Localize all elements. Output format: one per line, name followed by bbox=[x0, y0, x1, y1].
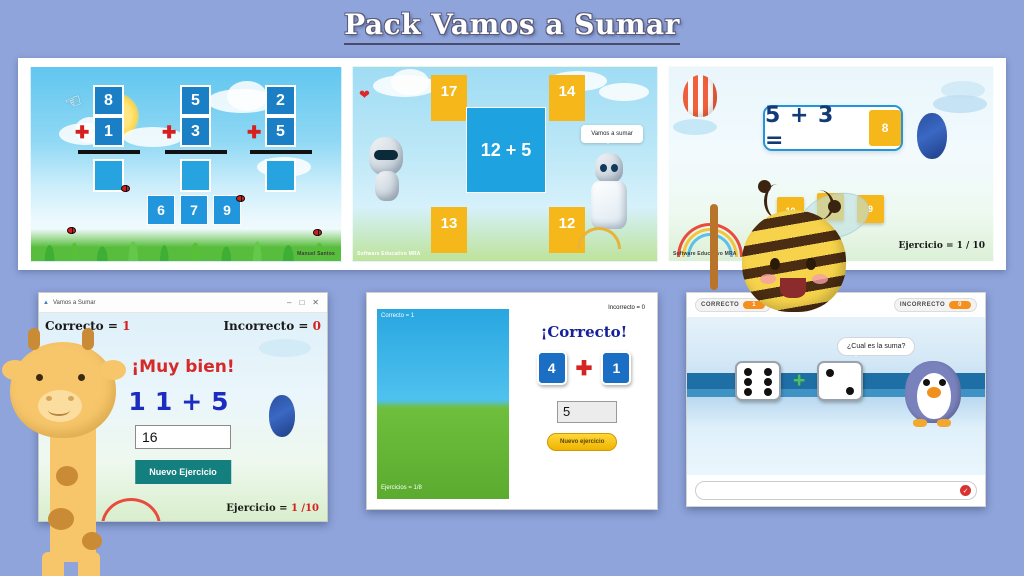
die-pip bbox=[846, 387, 854, 395]
slide-canvas: Pack Vamos a Sumar ☜ 8 1 ✚ 5 3 bbox=[0, 0, 1024, 576]
grass-decoration bbox=[31, 215, 341, 261]
addition-problem[interactable]: 2 5 bbox=[265, 85, 312, 192]
die-pip bbox=[744, 378, 752, 386]
sum-rule bbox=[165, 150, 227, 154]
operand-top: 8 bbox=[93, 85, 124, 116]
equation-display: 12 + 5 bbox=[466, 107, 546, 193]
plus-icon: ✚ bbox=[162, 123, 176, 143]
watermark: Manuel Santos bbox=[297, 251, 335, 257]
addition-problem[interactable]: 8 1 bbox=[93, 85, 140, 192]
answer-bar[interactable]: ✓ bbox=[687, 475, 985, 507]
sum-rule bbox=[250, 150, 312, 154]
rainbow-icon bbox=[101, 498, 161, 522]
correct-score: Correcto = 1 bbox=[45, 319, 130, 333]
exercise-counter: Ejercicio = 1 /10 bbox=[226, 503, 319, 514]
incorrect-value: 0 bbox=[949, 301, 971, 309]
heart-balloon-icon: ❤ bbox=[359, 87, 370, 103]
correct-value: 1 bbox=[743, 301, 765, 309]
new-exercise-button[interactable]: Nuevo ejercicio bbox=[547, 433, 617, 451]
penguin-foot-icon bbox=[937, 419, 951, 427]
correct-score: Correcto = 1 bbox=[381, 313, 414, 319]
maximize-icon[interactable]: □ bbox=[299, 298, 304, 307]
plus-icon: ✚ bbox=[576, 356, 593, 381]
answer-slot[interactable] bbox=[265, 159, 296, 192]
cloud-icon bbox=[673, 119, 717, 135]
incorrect-label: Incorrecto = bbox=[223, 319, 308, 333]
close-icon[interactable]: ✕ bbox=[312, 298, 319, 307]
equation-card: 5 + 3 = 8 bbox=[763, 105, 903, 151]
die-pip bbox=[764, 388, 772, 396]
hot-air-balloon-icon bbox=[683, 75, 717, 117]
ice-scene: + ¿Cual es la suma? bbox=[687, 317, 985, 475]
robot-eye-icon bbox=[600, 164, 607, 172]
plus-icon: + bbox=[181, 387, 211, 416]
check-circle-icon[interactable]: ✓ bbox=[960, 485, 971, 496]
minimize-icon[interactable]: – bbox=[287, 298, 291, 307]
app-icon: ▲ bbox=[43, 300, 49, 306]
exercise-counter: Ejercicio = 1 / 10 bbox=[898, 241, 985, 251]
parrot-mascot-icon bbox=[917, 113, 947, 159]
plus-icon: + bbox=[793, 369, 805, 393]
die-pip bbox=[744, 368, 752, 376]
penguin-foot-icon bbox=[913, 419, 927, 427]
top-screenshot-strip: ☜ 8 1 ✚ 5 3 ✚ 2 5 bbox=[18, 58, 1006, 270]
answer-slot[interactable] bbox=[93, 159, 124, 192]
feedback-message: ¡Muy bien! bbox=[39, 357, 327, 377]
incorrect-score: INCORRECTO 0 bbox=[894, 298, 977, 312]
giraffe-leg bbox=[42, 552, 64, 576]
panel-robot-addition[interactable]: ❤ 17 14 13 12 12 + 5 Vamos a sumar Softw… bbox=[352, 66, 658, 262]
feedback-message: ¡Correcto! bbox=[519, 323, 649, 341]
incorrect-score: Incorrecto = 0 bbox=[223, 319, 321, 333]
bee-cheek bbox=[812, 274, 828, 284]
exercise-total: /10 bbox=[301, 503, 319, 514]
sum-rule bbox=[78, 150, 140, 154]
answer-input[interactable]: 5 bbox=[557, 401, 617, 423]
addition-problem[interactable]: 5 3 bbox=[180, 85, 227, 192]
parrot-mascot-icon bbox=[269, 395, 295, 437]
cloud-icon bbox=[391, 69, 429, 95]
scoreboard: CORRECTO 1 INCORRECTO 0 bbox=[687, 293, 985, 317]
window-controls[interactable]: – □ ✕ bbox=[287, 298, 323, 307]
window-title: Vamos a Sumar bbox=[53, 300, 96, 306]
option-tile[interactable]: 10 bbox=[777, 197, 804, 225]
robot-eye-icon bbox=[611, 164, 618, 172]
die-left bbox=[735, 361, 781, 401]
answer-slot[interactable] bbox=[180, 159, 211, 192]
robot-right-head-icon bbox=[595, 153, 623, 183]
operand-bottom: 3 bbox=[180, 116, 211, 147]
cloud-icon bbox=[227, 81, 267, 111]
window-penguin-dice[interactable]: CORRECTO 1 INCORRECTO 0 + bbox=[686, 292, 986, 507]
correct-label: Correcto = bbox=[45, 319, 118, 333]
panel-vertical-addition[interactable]: ☜ 8 1 ✚ 5 3 ✚ 2 5 bbox=[30, 66, 342, 262]
panel-bee-addition[interactable]: 5 + 3 = 8 10 8 9 Ejercicio = 1 / 10 Soft… bbox=[668, 66, 994, 262]
operand-top: 2 bbox=[265, 85, 296, 116]
die-pip bbox=[744, 388, 752, 396]
answer-input[interactable] bbox=[695, 481, 977, 500]
window-titlebar[interactable]: ▲ Vamos a Sumar – □ ✕ bbox=[39, 293, 327, 313]
die-pip bbox=[764, 378, 772, 386]
operand-a: 4 bbox=[537, 351, 567, 385]
penguin-eye-icon bbox=[923, 379, 930, 386]
option-tile[interactable]: 8 bbox=[817, 193, 844, 221]
cloud-icon bbox=[933, 95, 987, 113]
new-exercise-button[interactable]: Nuevo Ejercicio bbox=[135, 460, 231, 484]
operand-bottom: 5 bbox=[265, 116, 296, 147]
operand-a: 11 bbox=[128, 387, 181, 416]
robot-left-body bbox=[375, 171, 399, 201]
operand-b: 5 bbox=[211, 387, 237, 416]
window-vamos-a-sumar[interactable]: ▲ Vamos a Sumar – □ ✕ Correcto = 1 Incor… bbox=[38, 292, 328, 522]
watermark: Software Educativo MRA bbox=[673, 251, 737, 257]
option-tile[interactable]: 9 bbox=[857, 195, 884, 223]
option-tile[interactable]: 13 bbox=[431, 207, 467, 253]
equation-answer: 8 bbox=[869, 110, 901, 146]
giraffe-ear bbox=[2, 360, 28, 380]
giraffe-spot bbox=[82, 532, 102, 550]
operand-bottom: 1 bbox=[93, 116, 124, 147]
kids-illustration bbox=[377, 309, 509, 499]
operand-top: 5 bbox=[180, 85, 211, 116]
equation-display: 4 ✚ 1 bbox=[519, 351, 649, 385]
speech-bubble: Vamos a sumar bbox=[581, 125, 643, 143]
bee-cheek bbox=[760, 274, 776, 284]
answer-input[interactable]: 16 bbox=[135, 425, 231, 449]
incorrect-value: 0 bbox=[313, 319, 321, 333]
penguin-eye-icon bbox=[939, 379, 946, 386]
pointing-hand-icon: ☜ bbox=[62, 89, 85, 116]
incorrect-label: INCORRECTO bbox=[900, 302, 945, 308]
correct-label: CORRECTO bbox=[701, 302, 739, 308]
correct-score: CORRECTO 1 bbox=[695, 298, 771, 312]
correct-value: 1 bbox=[122, 319, 130, 333]
ladybug-icon bbox=[313, 229, 322, 236]
die-pip bbox=[826, 369, 834, 377]
watermark: Software Educativo MRA bbox=[357, 251, 421, 257]
plus-icon: ✚ bbox=[247, 123, 261, 143]
penguin-beak-icon bbox=[927, 387, 941, 398]
robot-right-body bbox=[591, 181, 627, 229]
die-right bbox=[817, 361, 863, 401]
incorrect-score: Incorrecto = 0 bbox=[608, 305, 645, 311]
exercise-current: 1 bbox=[291, 503, 298, 514]
operand-b: 1 bbox=[601, 351, 631, 385]
page-title: Pack Vamos a Sumar bbox=[344, 8, 680, 45]
cloud-icon bbox=[599, 83, 649, 101]
cloud-icon bbox=[259, 339, 311, 357]
option-tile[interactable]: 17 bbox=[431, 75, 467, 121]
robot-left-icon bbox=[369, 137, 403, 175]
window-body: Correcto = 1 Incorrecto = 0 ¡Muy bien! 1… bbox=[39, 313, 327, 522]
speech-bubble: ¿Cual es la suma? bbox=[837, 337, 915, 356]
ladybug-icon bbox=[67, 227, 76, 234]
robot-eye-icon bbox=[374, 150, 398, 160]
exercise-label: Ejercicio = bbox=[226, 503, 287, 514]
window-correcto-kids[interactable]: Correcto = 1 Ejercicios = 1/8 Incorrecto… bbox=[366, 292, 658, 510]
exercise-counter: Ejercicios = 1/8 bbox=[381, 485, 422, 491]
plus-icon: ✚ bbox=[75, 123, 89, 143]
ladybug-icon bbox=[121, 185, 130, 192]
die-pip bbox=[764, 368, 772, 376]
equation-text: 5 + 3 = bbox=[765, 103, 862, 153]
option-tile[interactable]: 14 bbox=[549, 75, 585, 121]
page-title-wrap: Pack Vamos a Sumar bbox=[0, 8, 1024, 45]
ladybug-icon bbox=[236, 195, 245, 202]
giraffe-leg bbox=[78, 552, 100, 576]
